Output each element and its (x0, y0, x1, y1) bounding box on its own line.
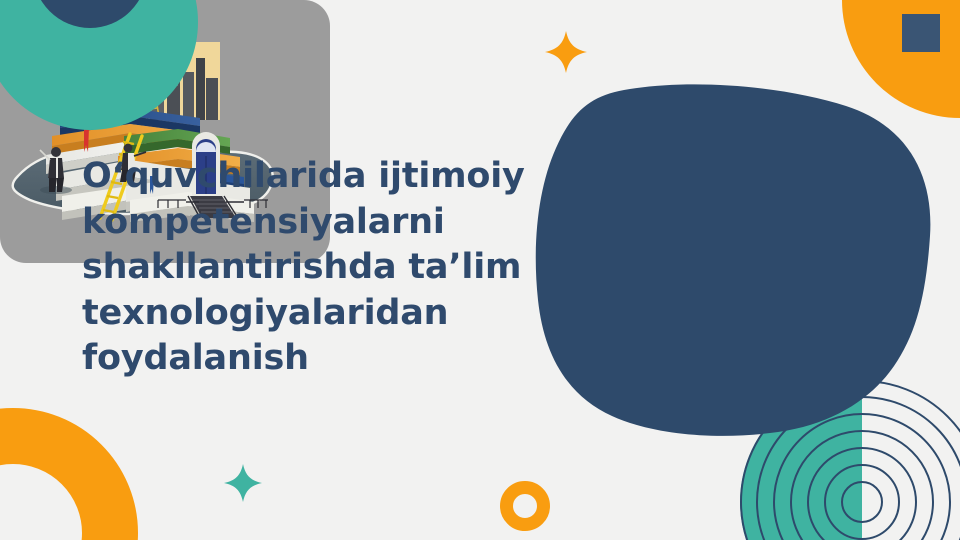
orange-sparkle-icon (545, 31, 587, 73)
top-right-quarter-circle (842, 0, 960, 118)
teal-sparkle-icon (224, 464, 262, 502)
bottom-center-orange-ring (500, 481, 550, 531)
slide-canvas: O‘quvchilarida ijtimoiy kompetensiyalarn… (0, 0, 960, 540)
illustration-navy-blob (516, 84, 936, 444)
bottom-right-radar-rings (738, 378, 960, 540)
bottom-right-navy-leaf (758, 387, 856, 441)
navy-tag-hole (780, 452, 802, 474)
bottom-left-orange-ring (0, 408, 138, 540)
page-title: O‘quvchilarida ijtimoiy kompetensiyalarn… (82, 154, 552, 382)
bottom-right-navy-tag (755, 432, 827, 540)
top-right-square (902, 14, 940, 52)
